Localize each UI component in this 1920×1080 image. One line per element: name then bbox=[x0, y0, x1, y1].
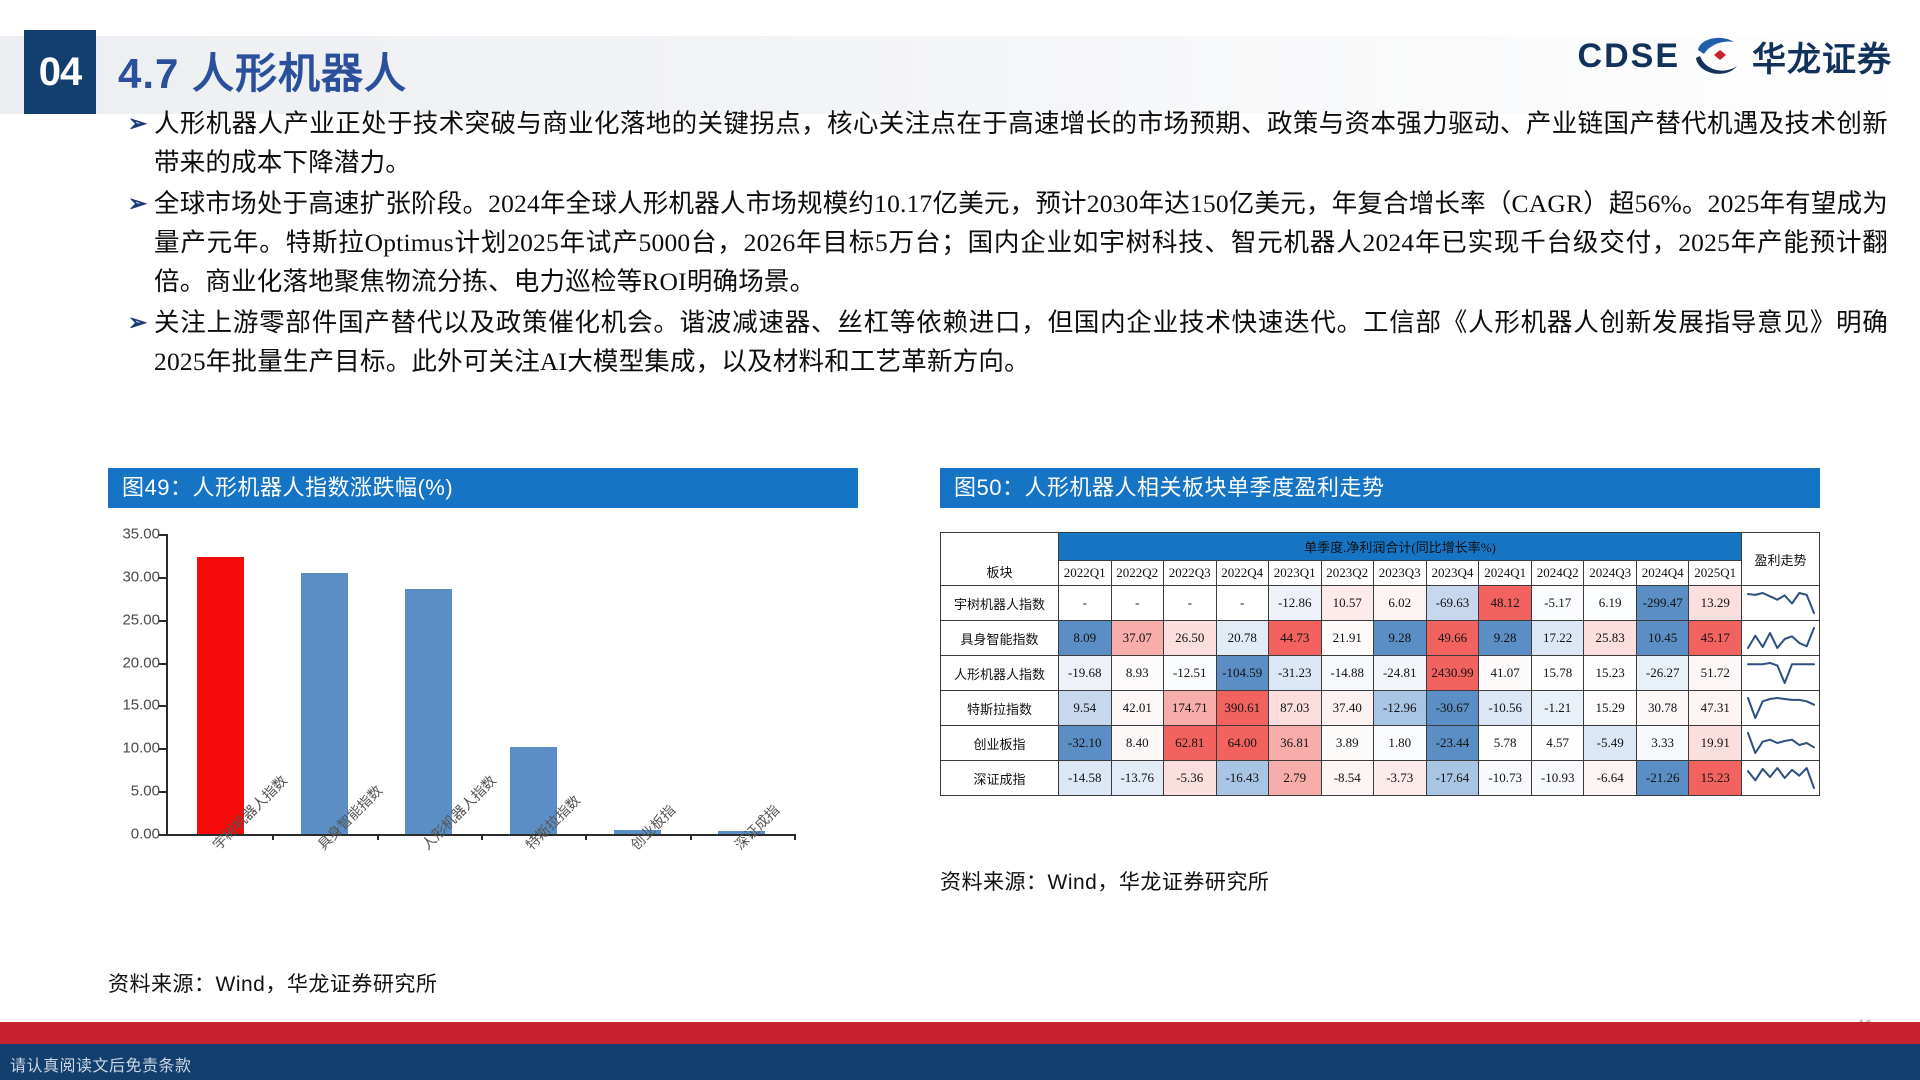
sparkline-cell bbox=[1742, 656, 1820, 691]
table-cell-value: -32.10 bbox=[1059, 726, 1112, 761]
table-cell-value: 30.78 bbox=[1636, 691, 1689, 726]
y-axis-tick bbox=[159, 620, 166, 622]
table-cell-value: 15.23 bbox=[1584, 656, 1637, 691]
table-cell-value: 8.09 bbox=[1059, 621, 1112, 656]
row-label-sector: 深证成指 bbox=[941, 761, 1059, 796]
bar bbox=[197, 557, 244, 834]
table-cell-value: -23.44 bbox=[1426, 726, 1479, 761]
page-title: 4.7 人形机器人 bbox=[118, 40, 407, 101]
x-axis-tick bbox=[272, 834, 274, 840]
table-cell-value: -5.36 bbox=[1164, 761, 1217, 796]
y-axis-tick bbox=[159, 791, 166, 793]
x-axis-tick bbox=[377, 834, 379, 840]
y-axis-tick bbox=[159, 534, 166, 536]
table-cell-value: 48.12 bbox=[1479, 586, 1532, 621]
table-body: 宇树机器人指数-----12.8610.576.02-69.6348.12-5.… bbox=[941, 586, 1820, 796]
column-header-quarter: 2023Q1 bbox=[1269, 561, 1322, 586]
table-cell-value: -10.56 bbox=[1479, 691, 1532, 726]
table-cell-value: -3.73 bbox=[1374, 761, 1427, 796]
table-cell-value: -14.88 bbox=[1321, 656, 1374, 691]
table-cell-value: 25.83 bbox=[1584, 621, 1637, 656]
sparkline-cell bbox=[1742, 691, 1820, 726]
table-cell-value: 4.57 bbox=[1531, 726, 1584, 761]
chart-source-note: 资料来源：Wind，华龙证券研究所 bbox=[108, 968, 437, 998]
y-axis-tick-label: 10.00 bbox=[122, 740, 160, 757]
y-axis-tick-label: 35.00 bbox=[122, 526, 160, 543]
table-panel: 图50：人形机器人相关板块单季度盈利走势 板块 单季度.净利润合计(同比增长率%… bbox=[940, 468, 1820, 896]
table-cell-value: -17.64 bbox=[1426, 761, 1479, 796]
column-header-quarter: 2022Q2 bbox=[1111, 561, 1164, 586]
list-item: ➢ 人形机器人产业正处于技术突破与商业化落地的关键拐点，核心关注点在于高速增长的… bbox=[128, 104, 1888, 182]
x-axis-category-label: 创业板指 bbox=[626, 800, 680, 854]
footer-accent-bar bbox=[0, 1022, 1920, 1044]
table-cell-value: 87.03 bbox=[1269, 691, 1322, 726]
table-cell-value: 44.73 bbox=[1269, 621, 1322, 656]
table-cell-value: 19.91 bbox=[1689, 726, 1742, 761]
table-cell-value: -24.81 bbox=[1374, 656, 1427, 691]
y-axis-tick-label: 0.00 bbox=[131, 826, 160, 843]
table-cell-value: 15.29 bbox=[1584, 691, 1637, 726]
table-cell-value: -1.21 bbox=[1531, 691, 1584, 726]
y-axis-tick-label: 25.00 bbox=[122, 611, 160, 628]
column-header-quarter: 2023Q3 bbox=[1374, 561, 1427, 586]
table-cell-value: - bbox=[1216, 586, 1269, 621]
table-row: 人形机器人指数-19.688.93-12.51-104.59-31.23-14.… bbox=[941, 656, 1820, 691]
table-row: 具身智能指数8.0937.0726.5020.7844.7321.919.284… bbox=[941, 621, 1820, 656]
company-logo: CDSE 华龙证券 bbox=[1578, 30, 1892, 82]
y-axis-tick-label: 20.00 bbox=[122, 654, 160, 671]
column-header-quarter: 2022Q3 bbox=[1164, 561, 1217, 586]
table-cell-value: -10.93 bbox=[1531, 761, 1584, 796]
table-cell-value: 17.22 bbox=[1531, 621, 1584, 656]
table-cell-value: -31.23 bbox=[1269, 656, 1322, 691]
chart-title: 图49：人形机器人指数涨跌幅(%) bbox=[108, 468, 858, 508]
table-row: 宇树机器人指数-----12.8610.576.02-69.6348.12-5.… bbox=[941, 586, 1820, 621]
bullet-arrow-icon: ➢ bbox=[128, 184, 154, 223]
table-cell-value: 49.66 bbox=[1426, 621, 1479, 656]
table-cell-value: 9.28 bbox=[1374, 621, 1427, 656]
table-cell-value: - bbox=[1111, 586, 1164, 621]
list-item: ➢ 关注上游零部件国产替代以及政策催化机会。谐波减速器、丝杠等依赖进口，但国内企… bbox=[128, 303, 1888, 381]
column-header-quarter: 2022Q4 bbox=[1216, 561, 1269, 586]
table-cell-value: -6.64 bbox=[1584, 761, 1637, 796]
table-cell-value: 390.61 bbox=[1216, 691, 1269, 726]
bullet-arrow-icon: ➢ bbox=[128, 104, 154, 143]
column-header-group: 单季度.净利润合计(同比增长率%) bbox=[1059, 533, 1742, 561]
bar bbox=[301, 573, 348, 834]
table-cell-value: -104.59 bbox=[1216, 656, 1269, 691]
bullet-text: 全球市场处于高速扩张阶段。2024年全球人形机器人市场规模约10.17亿美元，预… bbox=[154, 184, 1888, 301]
x-axis-tick bbox=[690, 834, 692, 840]
sparkline-cell bbox=[1742, 621, 1820, 656]
column-header-quarter: 2024Q4 bbox=[1636, 561, 1689, 586]
table-cell-value: -21.26 bbox=[1636, 761, 1689, 796]
table-cell-value: 174.71 bbox=[1164, 691, 1217, 726]
y-axis-tick-label: 15.00 bbox=[122, 697, 160, 714]
column-header-quarter: 2025Q1 bbox=[1689, 561, 1742, 586]
table-cell-value: -69.63 bbox=[1426, 586, 1479, 621]
y-axis-tick-label: 5.00 bbox=[131, 783, 160, 800]
sparkline-cell bbox=[1742, 586, 1820, 621]
table-row: 创业板指-32.108.4062.8164.0036.813.891.80-23… bbox=[941, 726, 1820, 761]
table-cell-value: -14.58 bbox=[1059, 761, 1112, 796]
row-label-sector: 创业板指 bbox=[941, 726, 1059, 761]
table-header-quarter-row: 2022Q12022Q22022Q32022Q42023Q12023Q22023… bbox=[941, 561, 1820, 586]
table-header-group-row: 板块 单季度.净利润合计(同比增长率%) 盈利走势 bbox=[941, 533, 1820, 561]
table-cell-value: 15.78 bbox=[1531, 656, 1584, 691]
bar bbox=[405, 589, 452, 834]
table-cell-value: -299.47 bbox=[1636, 586, 1689, 621]
bullet-list: ➢ 人形机器人产业正处于技术突破与商业化落地的关键拐点，核心关注点在于高速增长的… bbox=[128, 104, 1888, 383]
x-axis-tick bbox=[794, 834, 796, 840]
table-head: 板块 单季度.净利润合计(同比增长率%) 盈利走势 2022Q12022Q220… bbox=[941, 533, 1820, 586]
y-axis-labels: 0.005.0010.0015.0020.0025.0030.0035.00 bbox=[108, 534, 164, 834]
column-header-quarter: 2023Q4 bbox=[1426, 561, 1479, 586]
table-cell-value: 41.07 bbox=[1479, 656, 1532, 691]
table-cell-value: 3.89 bbox=[1321, 726, 1374, 761]
table-cell-value: - bbox=[1164, 586, 1217, 621]
table-cell-value: 20.78 bbox=[1216, 621, 1269, 656]
column-header-quarter: 2023Q2 bbox=[1321, 561, 1374, 586]
footer-bar: 请认真阅读文后免责条款 bbox=[0, 1044, 1920, 1080]
x-axis-tick bbox=[585, 834, 587, 840]
table-cell-value: -12.51 bbox=[1164, 656, 1217, 691]
footer-disclaimer: 请认真阅读文后免责条款 bbox=[10, 1052, 192, 1076]
table-cell-value: 15.23 bbox=[1689, 761, 1742, 796]
table-cell-value: 6.19 bbox=[1584, 586, 1637, 621]
table-cell-value: 9.28 bbox=[1479, 621, 1532, 656]
table-cell-value: 64.00 bbox=[1216, 726, 1269, 761]
column-header-quarter: 2024Q1 bbox=[1479, 561, 1532, 586]
bullet-text: 关注上游零部件国产替代以及政策催化机会。谐波减速器、丝杠等依赖进口，但国内企业技… bbox=[154, 303, 1888, 381]
table-cell-value: -5.17 bbox=[1531, 586, 1584, 621]
table-cell-value: 9.54 bbox=[1059, 691, 1112, 726]
wave-circle-logo-icon bbox=[1690, 30, 1742, 82]
table-title: 图50：人形机器人相关板块单季度盈利走势 bbox=[940, 468, 1820, 508]
table-cell-value: 8.93 bbox=[1111, 656, 1164, 691]
x-axis-tick bbox=[481, 834, 483, 840]
table-cell-value: 37.07 bbox=[1111, 621, 1164, 656]
table-cell-value: - bbox=[1059, 586, 1112, 621]
y-axis-tick bbox=[159, 705, 166, 707]
table-cell-value: 1.80 bbox=[1374, 726, 1427, 761]
row-label-sector: 具身智能指数 bbox=[941, 621, 1059, 656]
table-cell-value: 6.02 bbox=[1374, 586, 1427, 621]
table-cell-value: -12.96 bbox=[1374, 691, 1427, 726]
row-label-sector: 宇树机器人指数 bbox=[941, 586, 1059, 621]
table-cell-value: 2.79 bbox=[1269, 761, 1322, 796]
table-cell-value: 26.50 bbox=[1164, 621, 1217, 656]
list-item: ➢ 全球市场处于高速扩张阶段。2024年全球人形机器人市场规模约10.17亿美元… bbox=[128, 184, 1888, 301]
table-cell-value: 13.29 bbox=[1689, 586, 1742, 621]
section-number-badge: 04 bbox=[24, 30, 96, 114]
table-row: 深证成指-14.58-13.76-5.36-16.432.79-8.54-3.7… bbox=[941, 761, 1820, 796]
table-cell-value: 45.17 bbox=[1689, 621, 1742, 656]
table-cell-value: 2430.99 bbox=[1426, 656, 1479, 691]
column-header-sector: 板块 bbox=[941, 533, 1059, 586]
column-header-trend: 盈利走势 bbox=[1742, 533, 1820, 586]
heatmap-table-wrapper: 板块 单季度.净利润合计(同比增长率%) 盈利走势 2022Q12022Q220… bbox=[940, 532, 1820, 796]
table-cell-value: 36.81 bbox=[1269, 726, 1322, 761]
table-cell-value: 21.91 bbox=[1321, 621, 1374, 656]
x-axis-category-label: 深证成指 bbox=[730, 800, 784, 854]
table-cell-value: -12.86 bbox=[1269, 586, 1322, 621]
bullet-text: 人形机器人产业正处于技术突破与商业化落地的关键拐点，核心关注点在于高速增长的市场… bbox=[154, 104, 1888, 182]
bullet-arrow-icon: ➢ bbox=[128, 303, 154, 342]
chart-panel: 图49：人形机器人指数涨跌幅(%) 0.005.0010.0015.0020.0… bbox=[108, 468, 858, 874]
table-cell-value: 3.33 bbox=[1636, 726, 1689, 761]
table-cell-value: 42.01 bbox=[1111, 691, 1164, 726]
table-cell-value: -26.27 bbox=[1636, 656, 1689, 691]
logo-text-cn: 华龙证券 bbox=[1752, 32, 1892, 81]
table-cell-value: 8.40 bbox=[1111, 726, 1164, 761]
row-label-sector: 人形机器人指数 bbox=[941, 656, 1059, 691]
column-header-quarter: 2024Q2 bbox=[1531, 561, 1584, 586]
table-cell-value: -30.67 bbox=[1426, 691, 1479, 726]
table-cell-value: 37.40 bbox=[1321, 691, 1374, 726]
x-axis-line bbox=[166, 834, 794, 836]
sparkline-cell bbox=[1742, 761, 1820, 796]
y-axis-tick bbox=[159, 663, 166, 665]
table-row: 特斯拉指数9.5442.01174.71390.6187.0337.40-12.… bbox=[941, 691, 1820, 726]
bar-chart: 0.005.0010.0015.0020.0025.0030.0035.00 宇… bbox=[108, 534, 858, 874]
table-source-note: 资料来源：Wind，华龙证券研究所 bbox=[940, 866, 1820, 896]
table-cell-value: -8.54 bbox=[1321, 761, 1374, 796]
table-cell-value: 51.72 bbox=[1689, 656, 1742, 691]
row-label-sector: 特斯拉指数 bbox=[941, 691, 1059, 726]
y-axis-tick bbox=[159, 834, 166, 836]
table-cell-value: 10.57 bbox=[1321, 586, 1374, 621]
table-cell-value: -19.68 bbox=[1059, 656, 1112, 691]
plot-area: 宇树机器人指数具身智能指数人形机器人指数特斯拉指数创业板指深证成指 bbox=[168, 534, 794, 834]
column-header-quarter: 2024Q3 bbox=[1584, 561, 1637, 586]
y-axis-tick bbox=[159, 577, 166, 579]
sparkline-cell bbox=[1742, 726, 1820, 761]
y-axis-tick bbox=[159, 748, 166, 750]
table-cell-value: -16.43 bbox=[1216, 761, 1269, 796]
heatmap-table: 板块 单季度.净利润合计(同比增长率%) 盈利走势 2022Q12022Q220… bbox=[940, 532, 1820, 796]
table-cell-value: 47.31 bbox=[1689, 691, 1742, 726]
table-cell-value: 62.81 bbox=[1164, 726, 1217, 761]
logo-text-en: CDSE bbox=[1578, 37, 1680, 76]
column-header-quarter: 2022Q1 bbox=[1059, 561, 1112, 586]
table-cell-value: 10.45 bbox=[1636, 621, 1689, 656]
table-cell-value: -10.73 bbox=[1479, 761, 1532, 796]
table-cell-value: -13.76 bbox=[1111, 761, 1164, 796]
y-axis-tick-label: 30.00 bbox=[122, 568, 160, 585]
table-cell-value: 5.78 bbox=[1479, 726, 1532, 761]
table-cell-value: -5.49 bbox=[1584, 726, 1637, 761]
